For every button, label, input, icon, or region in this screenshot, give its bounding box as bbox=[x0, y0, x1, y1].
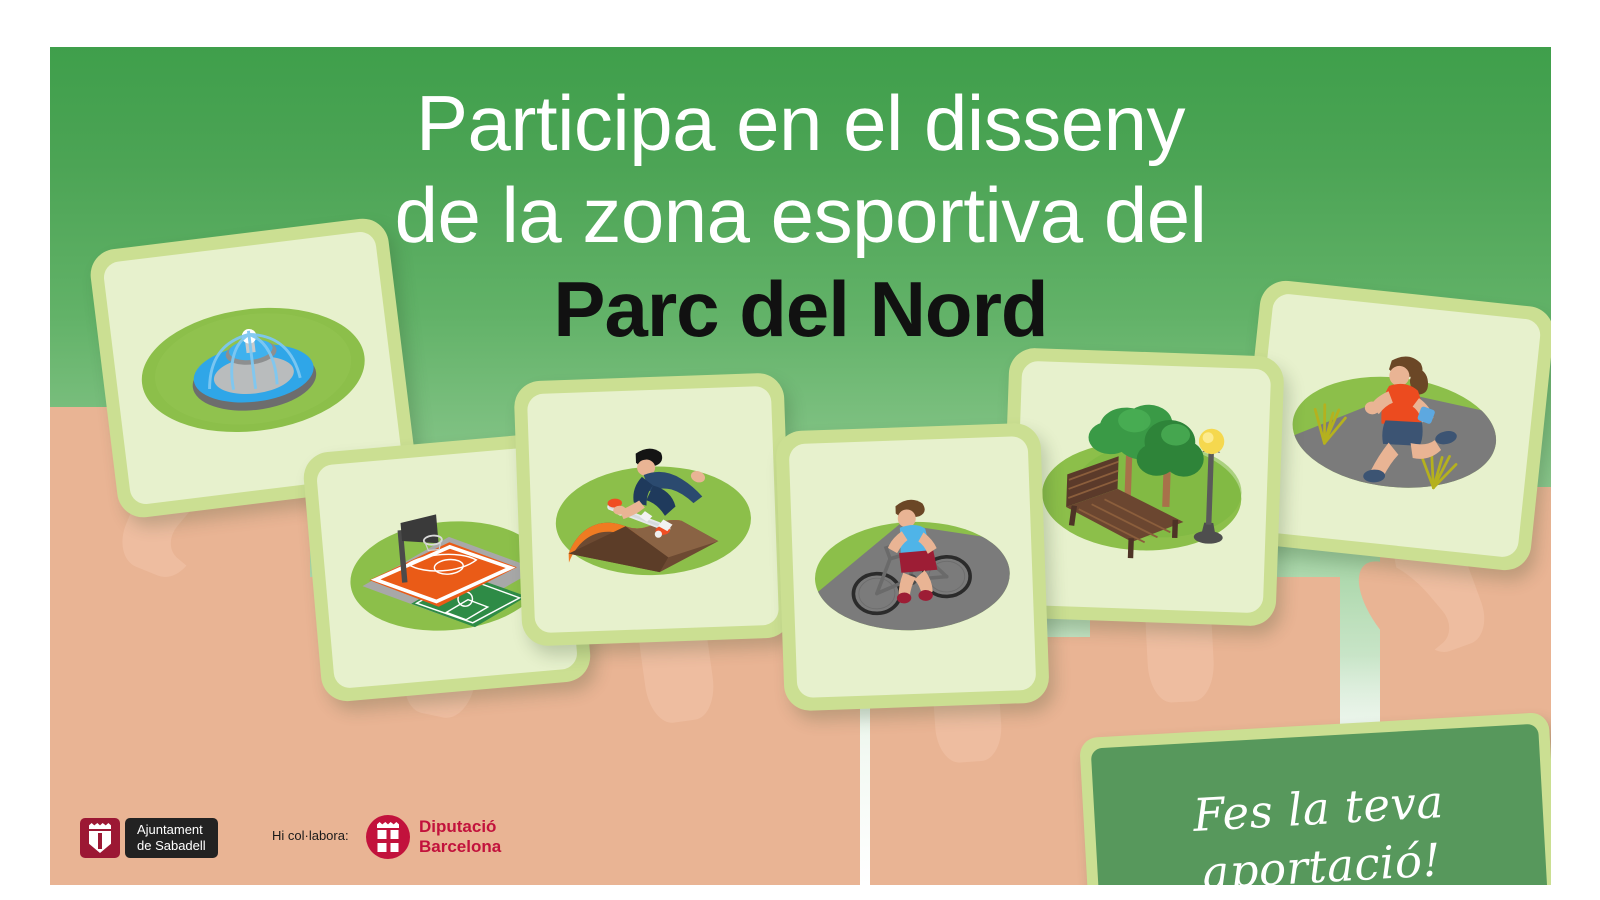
diputacio-seal-icon bbox=[366, 815, 410, 859]
diputacio-line-1: Diputació bbox=[419, 817, 501, 837]
headline-line-1: Participa en el disseny bbox=[50, 77, 1551, 169]
poster-root: Participa en el disseny de la zona espor… bbox=[0, 0, 1600, 900]
logo-diputacio-barcelona[interactable]: Diputació Barcelona bbox=[366, 815, 501, 859]
ajuntament-line-1: Ajuntament bbox=[137, 822, 206, 838]
sabadell-shield-icon bbox=[80, 818, 120, 858]
crown-icon bbox=[377, 822, 399, 828]
diputacio-name: Diputació Barcelona bbox=[419, 817, 501, 857]
card-skatepark[interactable] bbox=[513, 372, 792, 646]
card-running-inner bbox=[1249, 293, 1542, 559]
crown-icon bbox=[89, 823, 111, 829]
cyclist-icon bbox=[789, 436, 1037, 698]
skateboard-ramp-icon bbox=[527, 386, 779, 633]
card-bikepath[interactable] bbox=[775, 422, 1050, 711]
diputacio-line-2: Barcelona bbox=[419, 837, 501, 857]
cross-crest-icon bbox=[378, 830, 399, 852]
card-bench-inner bbox=[1014, 361, 1271, 614]
ajuntament-line-2: de Sabadell bbox=[137, 838, 206, 854]
park-bench-icon bbox=[1014, 361, 1271, 614]
ajuntament-name-box: Ajuntament de Sabadell bbox=[125, 818, 218, 858]
banner-background: Participa en el disseny de la zona espor… bbox=[50, 47, 1551, 885]
card-running[interactable] bbox=[1235, 278, 1551, 572]
card-skatepark-inner bbox=[527, 386, 779, 633]
logo-ajuntament-sabadell[interactable]: Ajuntament de Sabadell bbox=[80, 818, 218, 858]
card-bikepath-inner bbox=[789, 436, 1037, 698]
collaborator-label: Hi col·labora: bbox=[272, 828, 349, 843]
crest-icon bbox=[89, 831, 111, 853]
footer-logos: Ajuntament de Sabadell Hi col·labora: Di… bbox=[0, 790, 1600, 900]
runner-icon bbox=[1249, 293, 1542, 559]
